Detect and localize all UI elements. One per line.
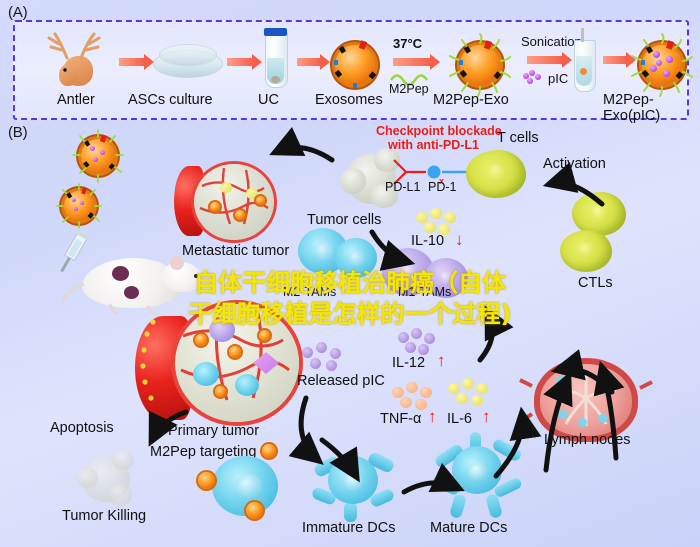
process-arrow-3 bbox=[297, 58, 321, 66]
process-arrow-4 bbox=[393, 58, 431, 66]
released-pic-label: Released pIC bbox=[297, 373, 385, 389]
checkpoint-blockade-line1: Checkpoint blockade bbox=[376, 124, 502, 138]
temperature-annotation: 37°C bbox=[393, 36, 422, 51]
figure-canvas: (A) Antler ASCs culture bbox=[0, 0, 700, 547]
exosome-peptide-icon bbox=[447, 32, 513, 98]
process-arrow-1 bbox=[119, 58, 145, 66]
metastatic-tumor-label: Metastatic tumor bbox=[182, 243, 289, 259]
pd1-label: PD-1 bbox=[428, 180, 456, 194]
lymph-nodes-label: Lymph nodes bbox=[544, 432, 631, 448]
il12-label: IL-12 bbox=[392, 355, 425, 371]
m2pep-annotation: M2Pep bbox=[389, 82, 429, 96]
released-pic-cluster bbox=[302, 342, 348, 374]
immature-dcs-label: Immature DCs bbox=[302, 520, 395, 536]
sonicator-tube-icon bbox=[571, 28, 597, 90]
il10-label: IL-10 bbox=[411, 233, 444, 249]
tumor-cells-label: Tumor cells bbox=[307, 212, 381, 228]
step-label-ascs-culture: ASCs culture bbox=[128, 92, 213, 108]
step-label-uc: UC bbox=[258, 92, 279, 108]
il6-cytokine-cluster bbox=[448, 378, 492, 408]
t-cell-icon-1 bbox=[466, 150, 526, 198]
il12-trend-arrow: ↑ bbox=[437, 351, 446, 371]
step-label-m2pep-exo: M2Pep-Exo bbox=[433, 92, 509, 108]
apoptosis-label: Apoptosis bbox=[50, 420, 114, 436]
watermark-line-2: 干细胞移植是怎样的一个过程) bbox=[20, 299, 680, 330]
il10-trend-arrow: ↓ bbox=[455, 230, 464, 250]
tnfa-trend-arrow: ↑ bbox=[428, 407, 437, 427]
watermark-line-1: 自体干细胞移植治肺癌（自体 bbox=[20, 268, 680, 299]
activation-label: Activation bbox=[543, 156, 606, 172]
pic-cluster-icon bbox=[523, 70, 545, 84]
injected-exosome-icon-1 bbox=[70, 128, 126, 184]
mature-dc-icon bbox=[432, 432, 524, 518]
centrifuge-tube-icon bbox=[263, 26, 289, 88]
tnfa-label: TNF-α bbox=[380, 411, 421, 427]
pdl1-label: PD-L1 bbox=[385, 180, 420, 194]
process-arrow-2 bbox=[227, 58, 253, 66]
targeted-macrophage-icon bbox=[198, 450, 284, 524]
watermark-text: 自体干细胞移植治肺癌（自体 干细胞移植是怎样的一个过程) bbox=[20, 268, 680, 329]
step-label-exosomes: Exosomes bbox=[315, 92, 383, 108]
exosome-icon bbox=[328, 38, 382, 92]
primary-tumor-label: Primary tumor bbox=[168, 423, 259, 439]
exosome-pic-icon bbox=[629, 32, 695, 98]
process-arrow-5 bbox=[527, 56, 563, 64]
il6-label: IL-6 bbox=[447, 411, 472, 427]
t-cells-label: T cells bbox=[497, 130, 539, 146]
apoptotic-cell-icon bbox=[76, 450, 138, 508]
step-label-antler: Antler bbox=[57, 92, 95, 108]
immature-dc-icon bbox=[310, 440, 396, 520]
il12-cytokine-cluster bbox=[398, 328, 440, 358]
il6-trend-arrow: ↑ bbox=[482, 407, 491, 427]
metastatic-tumor-icon bbox=[172, 152, 284, 248]
injected-exosome-icon-2 bbox=[55, 182, 103, 230]
panel-a-tag: (A) bbox=[8, 4, 27, 21]
panel-a-container: Antler ASCs culture UC bbox=[13, 20, 689, 120]
petri-dish-icon bbox=[153, 44, 221, 80]
panel-b-container: Metastatic tumor Tumor cells Checkpoint … bbox=[0, 120, 700, 547]
deer-icon bbox=[37, 30, 115, 90]
tumor-killing-label: Tumor Killing bbox=[62, 508, 146, 524]
process-arrow-6 bbox=[603, 56, 627, 64]
mature-dcs-label: Mature DCs bbox=[430, 520, 507, 536]
pic-annotation: pIC bbox=[548, 71, 568, 86]
ctl-icon-2 bbox=[560, 230, 612, 272]
